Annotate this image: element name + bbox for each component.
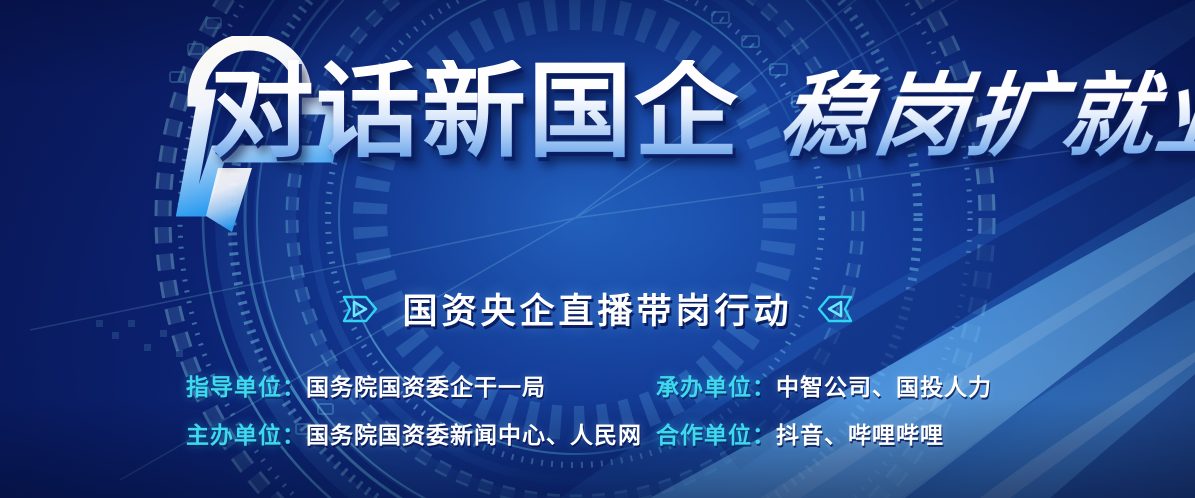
credit-label: 指导单位： <box>186 368 306 402</box>
credit-value: 国务院国资委企干一局 <box>306 368 546 402</box>
subtitle-row: 国资央企直播带岗行动 <box>0 283 1195 334</box>
credit-value: 国务院国资委新闻中心、人民网 <box>306 416 642 450</box>
credits-grid: 指导单位： 国务院国资委企干一局 承办单位： 中智公司、国投人力 主办单位： 国… <box>186 368 992 450</box>
credit-item-guidance: 指导单位： 国务院国资委企干一局 <box>186 368 656 402</box>
credit-item-host: 主办单位： 国务院国资委新闻中心、人民网 <box>186 416 656 450</box>
main-title-part2: 稳岗扩就业 <box>774 70 1195 162</box>
play-triangle-left-icon <box>815 291 855 327</box>
promo-banner: 对话新国企 稳岗扩就业 国资央企直播带岗行动 指导单位： 国务院国资委企干一局 … <box>0 0 1195 498</box>
credit-item-partner: 合作单位： 抖音、哔哩哔哩 <box>656 416 992 450</box>
main-title: 对话新国企 稳岗扩就业 <box>210 60 1195 164</box>
credit-label: 合作单位： <box>656 416 776 450</box>
credit-item-organizer: 承办单位： 中智公司、国投人力 <box>656 368 992 402</box>
credit-value: 抖音、哔哩哔哩 <box>776 416 944 450</box>
credit-value: 中智公司、国投人力 <box>776 368 992 402</box>
credit-label: 承办单位： <box>656 368 776 402</box>
play-triangle-right-icon <box>340 291 380 327</box>
subtitle-text: 国资央企直播带岗行动 <box>402 283 792 334</box>
main-title-part1: 对话新国企 <box>210 60 740 164</box>
credit-label: 主办单位： <box>186 416 306 450</box>
